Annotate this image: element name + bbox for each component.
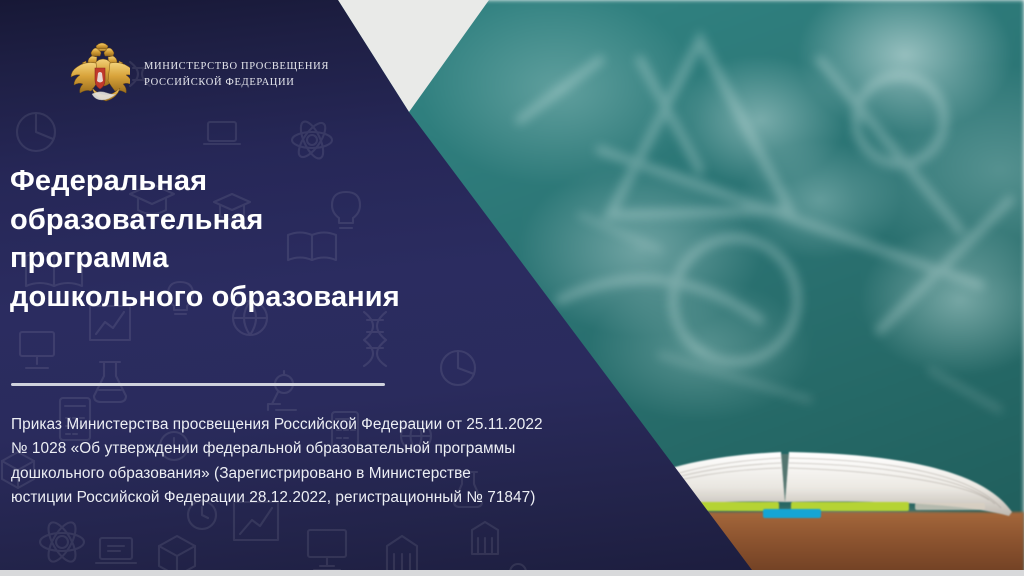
title-slide: МИНИСТЕРСТВО ПРОСВЕЩЕНИЯ РОССИЙСКОЙ ФЕДЕ… <box>0 0 1024 576</box>
body-line-1: Приказ Министерства просвещения Российск… <box>11 413 641 437</box>
title-line-1: Федеральная <box>10 165 207 197</box>
title-divider <box>11 383 385 386</box>
flask-icon <box>94 362 126 402</box>
pie-chart-icon <box>441 351 475 385</box>
ministry-header: МИНИСТЕРСТВО ПРОСВЕЩЕНИЯ РОССИЙСКОЙ ФЕДЕ… <box>68 42 329 108</box>
microscope-icon <box>268 371 296 410</box>
laptop-icon <box>204 122 240 144</box>
laptop-icon <box>96 538 136 563</box>
page-title: Федеральная образовательная программа до… <box>10 162 480 316</box>
order-reference-text: Приказ Министерства просвещения Российск… <box>11 413 641 510</box>
ministry-line-2: РОССИЙСКОЙ ФЕДЕРАЦИИ <box>144 76 329 90</box>
atom-icon <box>292 118 332 161</box>
pie-chart-icon <box>17 113 55 151</box>
monitor-icon <box>308 530 346 570</box>
monitor-icon <box>20 332 54 368</box>
title-line-3: программа <box>10 242 168 274</box>
body-line-2: № 1028 «Об утверждении федеральной образ… <box>11 437 641 461</box>
title-line-4: дошкольного образования <box>10 281 400 313</box>
dna-icon <box>364 312 386 366</box>
russian-coat-of-arms-emblem <box>68 42 130 108</box>
building-icon <box>472 522 498 554</box>
body-line-3: дошкольного образования» (Зарегистрирова… <box>11 462 641 486</box>
atom-icon <box>40 518 84 565</box>
ministry-name: МИНИСТЕРСТВО ПРОСВЕЩЕНИЯ РОССИЙСКОЙ ФЕДЕ… <box>144 60 329 90</box>
bottom-strip <box>0 570 1024 576</box>
title-line-2: образовательная <box>10 204 263 236</box>
ministry-line-1: МИНИСТЕРСТВО ПРОСВЕЩЕНИЯ <box>144 60 329 74</box>
body-line-4: юстиции Российской Федерации 28.12.2022,… <box>11 486 641 510</box>
